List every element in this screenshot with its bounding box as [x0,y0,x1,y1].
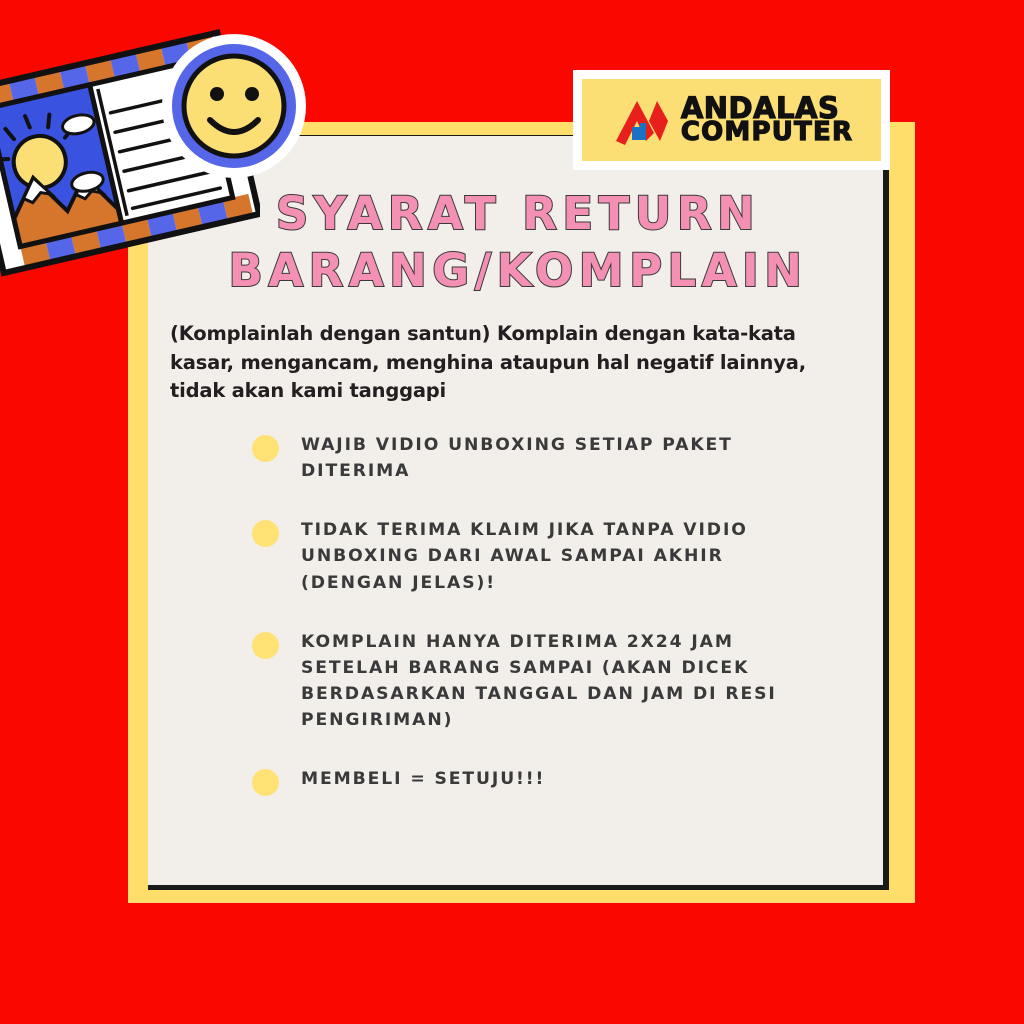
bullet-dot-icon [252,769,279,796]
list-item-label: MEMBELI = SETUJU!!! [301,766,545,796]
list-item-label: KOMPLAIN HANYA DITERIMA 2X24 JAM SETELAH… [301,629,822,734]
brand-logo-badge: ANDALAS COMPUTER [573,70,890,170]
list-item-label: WAJIB VIDIO UNBOXING SETIAP PAKET DITERI… [301,432,822,484]
poster-canvas: SYARAT RETURN BARANG/KOMPLAIN (Komplainl… [0,0,1024,1024]
list-item: TIDAK TERIMA KLAIM JIKA TANPA VIDIO UNBO… [252,517,822,595]
rules-list: WAJIB VIDIO UNBOXING SETIAP PAKET DITERI… [252,432,822,829]
page-title-line2: BARANG/KOMPLAIN [168,243,868,300]
bullet-dot-icon [252,520,279,547]
list-item-label: TIDAK TERIMA KLAIM JIKA TANPA VIDIO UNBO… [301,517,822,595]
bullet-dot-icon [252,435,279,462]
brand-logo-text: ANDALAS COMPUTER [681,95,853,146]
brand-name-line2: COMPUTER [681,121,853,145]
intro-paragraph: (Komplainlah dengan santun) Komplain den… [170,320,820,406]
smiley-face-sticker-icon [160,32,308,180]
list-item: KOMPLAIN HANYA DITERIMA 2X24 JAM SETELAH… [252,629,822,734]
andalas-mountain-mark-icon [610,91,672,149]
page-title: SYARAT RETURN BARANG/KOMPLAIN [168,186,868,299]
brand-logo-inner: ANDALAS COMPUTER [582,79,881,161]
list-item: MEMBELI = SETUJU!!! [252,766,822,796]
list-item: WAJIB VIDIO UNBOXING SETIAP PAKET DITERI… [252,432,822,484]
bullet-dot-icon [252,632,279,659]
page-title-line1: SYARAT RETURN [276,187,760,240]
